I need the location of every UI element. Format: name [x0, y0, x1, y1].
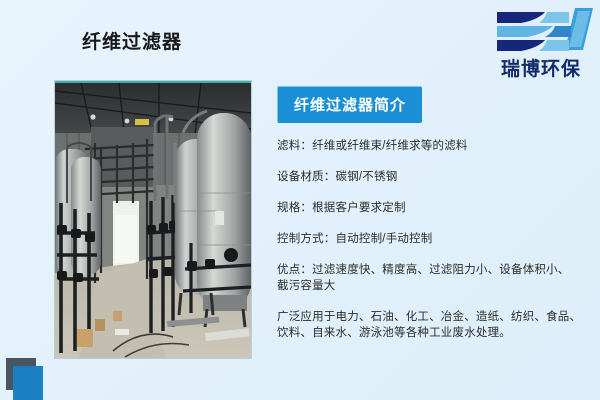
- product-photo: [55, 81, 251, 358]
- info-panel: 纤维过滤器简介 滤料：纤维或纤维束/纤维求等的滤料 设备材质：碳钢/不锈钢 规格…: [277, 86, 595, 341]
- info-line-text-second: 饮料、自来水、游泳池等各种工业废水处理。: [277, 325, 595, 341]
- ruibo-logo-mark-icon: [483, 6, 595, 54]
- info-line-text: 设备材质：碳钢/不锈钢: [277, 171, 397, 183]
- decorative-square: [6, 358, 46, 400]
- info-line-text-second: 截污容量大: [277, 278, 595, 294]
- info-line-control-mode: 控制方式：自动控制/手动控制: [277, 231, 595, 247]
- info-line-applications: 广泛应用于电力、石油、化工、冶金、造纸、纺织、食品、 饮料、自来水、游泳池等各种…: [277, 309, 595, 341]
- slide-canvas: 纤维过滤器 瑞博环保: [0, 0, 600, 400]
- info-line-text: 优点：过滤速度快、精度高、过滤阻力小、设备体积小、: [277, 264, 570, 276]
- brand-name: 瑞博环保: [487, 54, 595, 81]
- decorative-square-front: [13, 366, 43, 400]
- info-line-text: 控制方式：自动控制/手动控制: [277, 233, 433, 245]
- info-line-equipment-material: 设备材质：碳钢/不锈钢: [277, 169, 595, 185]
- page-title: 纤维过滤器: [82, 27, 182, 54]
- info-line-advantages: 优点：过滤速度快、精度高、过滤阻力小、设备体积小、 截污容量大: [277, 262, 595, 294]
- info-line-material: 滤料：纤维或纤维束/纤维求等的滤料: [277, 138, 595, 154]
- info-line-text: 滤料：纤维或纤维束/纤维求等的滤料: [277, 140, 468, 152]
- product-photo-image: [55, 83, 251, 358]
- info-line-text: 广泛应用于电力、石油、化工、冶金、造纸、纺织、食品、: [277, 311, 581, 323]
- info-line-text: 规格：根据客户要求定制: [277, 202, 406, 214]
- brand-logo: 瑞博环保: [483, 6, 595, 82]
- info-heading: 纤维过滤器简介: [277, 86, 422, 123]
- info-line-specification: 规格：根据客户要求定制: [277, 200, 595, 216]
